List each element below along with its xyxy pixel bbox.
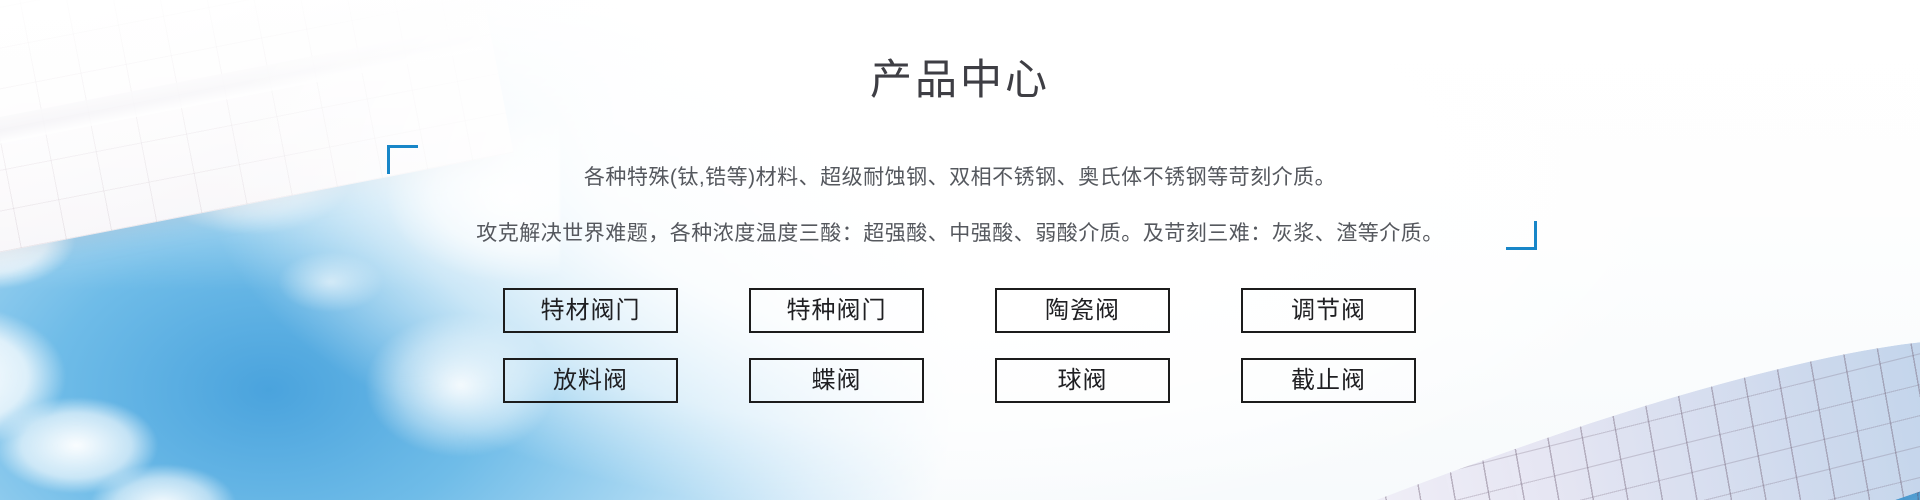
category-button-discharge-valve[interactable]: 放料阀	[503, 358, 678, 403]
page-title: 产品中心	[0, 52, 1920, 108]
category-button-tecai-valve[interactable]: 特材阀门	[503, 288, 678, 333]
product-category-grid: 特材阀门 特种阀门 陶瓷阀 调节阀 放料阀 蝶阀 球阀 截止阀	[503, 288, 1415, 403]
category-button-globe-valve[interactable]: 截止阀	[1241, 358, 1416, 403]
description-line-1: 各种特殊(钛,锆等)材料、超级耐蚀钢、双相不锈钢、奥氏体不锈钢等苛刻介质。	[0, 150, 1920, 206]
category-button-ceramic-valve[interactable]: 陶瓷阀	[995, 288, 1170, 333]
banner-content: 产品中心 各种特殊(钛,锆等)材料、超级耐蚀钢、双相不锈钢、奥氏体不锈钢等苛刻介…	[0, 0, 1920, 500]
description-block: 各种特殊(钛,锆等)材料、超级耐蚀钢、双相不锈钢、奥氏体不锈钢等苛刻介质。 攻克…	[0, 150, 1920, 262]
category-button-ball-valve[interactable]: 球阀	[995, 358, 1170, 403]
category-button-control-valve[interactable]: 调节阀	[1241, 288, 1416, 333]
description-line-2: 攻克解决世界难题，各种浓度温度三酸：超强酸、中强酸、弱酸介质。及苛刻三难：灰浆、…	[0, 206, 1920, 262]
category-button-special-valve[interactable]: 特种阀门	[749, 288, 924, 333]
product-center-banner: 产品中心 各种特殊(钛,锆等)材料、超级耐蚀钢、双相不锈钢、奥氏体不锈钢等苛刻介…	[0, 0, 1920, 500]
category-button-butterfly-valve[interactable]: 蝶阀	[749, 358, 924, 403]
